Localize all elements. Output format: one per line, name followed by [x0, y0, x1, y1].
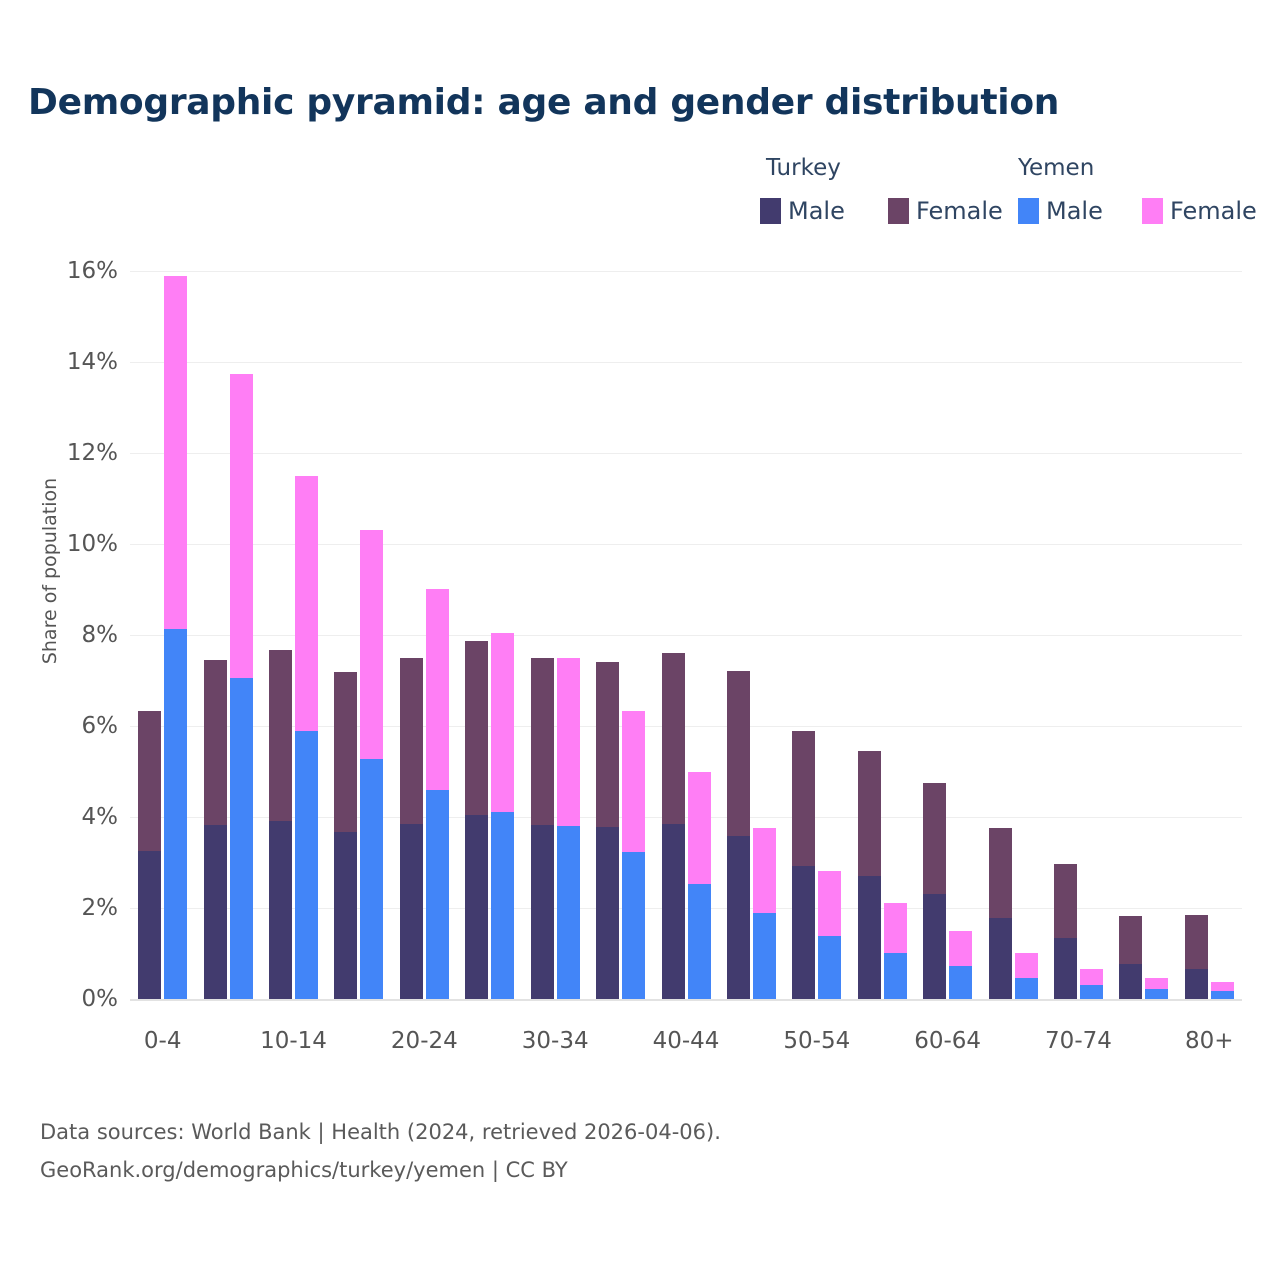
bar-yemen-20-24-female-segment[interactable]	[426, 589, 449, 790]
x-tick-label: 50-54	[783, 1028, 850, 1054]
x-tick-label: 40-44	[653, 1028, 720, 1054]
bar-turkey-75-79[interactable]	[1119, 916, 1142, 999]
y-axis-label: Share of population	[39, 461, 61, 681]
bar-turkey-45-49-female-segment[interactable]	[727, 671, 750, 836]
x-tick-label: 60-64	[914, 1028, 981, 1054]
bar-turkey-20-24[interactable]	[400, 658, 423, 999]
bar-yemen-5-9-female-segment[interactable]	[230, 374, 253, 678]
gridline-14%	[130, 362, 1242, 363]
bar-yemen-40-44-male-segment[interactable]	[688, 884, 711, 999]
bar-turkey-80+-male-segment[interactable]	[1185, 969, 1208, 999]
bar-yemen-40-44-female-segment[interactable]	[688, 772, 711, 884]
bar-turkey-80+-female-segment[interactable]	[1185, 915, 1208, 968]
bar-yemen-40-44[interactable]	[688, 772, 711, 1000]
bar-yemen-45-49[interactable]	[753, 828, 776, 999]
bar-yemen-55-59[interactable]	[884, 903, 907, 999]
gridline-12%	[130, 453, 1242, 454]
bar-yemen-0-4-male-segment[interactable]	[164, 629, 187, 999]
bar-yemen-70-74-male-segment[interactable]	[1080, 985, 1103, 999]
y-tick-label: 6%	[0, 713, 118, 739]
y-tick-label: 2%	[0, 895, 118, 921]
bar-yemen-60-64[interactable]	[949, 931, 972, 999]
bar-yemen-65-69-male-segment[interactable]	[1015, 978, 1038, 999]
bar-turkey-10-14[interactable]	[269, 650, 292, 999]
bar-turkey-60-64-female-segment[interactable]	[923, 783, 946, 894]
bar-yemen-35-39-male-segment[interactable]	[622, 852, 645, 999]
bar-turkey-70-74[interactable]	[1054, 864, 1077, 999]
bar-yemen-75-79-female-segment[interactable]	[1145, 978, 1168, 989]
bar-turkey-35-39-male-segment[interactable]	[596, 827, 619, 999]
bar-yemen-70-74-female-segment[interactable]	[1080, 969, 1103, 986]
bar-turkey-75-79-male-segment[interactable]	[1119, 964, 1142, 999]
bar-yemen-35-39[interactable]	[622, 711, 645, 999]
bar-yemen-0-4-female-segment[interactable]	[164, 276, 187, 629]
footer: Data sources: World Bank | Health (2024,…	[40, 1113, 721, 1189]
bar-turkey-25-29-male-segment[interactable]	[465, 815, 488, 999]
y-tick-label: 10%	[0, 531, 118, 557]
bar-turkey-30-34-male-segment[interactable]	[531, 825, 554, 999]
bar-turkey-10-14-female-segment[interactable]	[269, 650, 292, 821]
bar-turkey-25-29-female-segment[interactable]	[465, 641, 488, 815]
bar-turkey-0-4[interactable]	[138, 711, 161, 999]
bar-turkey-15-19-female-segment[interactable]	[334, 672, 357, 831]
y-tick-label: 4%	[0, 804, 118, 830]
bar-yemen-15-19-male-segment[interactable]	[360, 759, 383, 999]
x-tick-label: 10-14	[260, 1028, 327, 1054]
bar-yemen-75-79-male-segment[interactable]	[1145, 989, 1168, 999]
bar-turkey-0-4-male-segment[interactable]	[138, 851, 161, 999]
bar-turkey-10-14-male-segment[interactable]	[269, 821, 292, 999]
bar-turkey-35-39-female-segment[interactable]	[596, 662, 619, 827]
bar-yemen-25-29[interactable]	[491, 633, 514, 999]
bar-turkey-5-9-female-segment[interactable]	[204, 660, 227, 825]
bar-yemen-60-64-male-segment[interactable]	[949, 966, 972, 999]
bar-yemen-60-64-female-segment[interactable]	[949, 931, 972, 966]
bar-yemen-0-4[interactable]	[164, 276, 187, 999]
bar-turkey-5-9-male-segment[interactable]	[204, 825, 227, 999]
footer-line-1: Data sources: World Bank | Health (2024,…	[40, 1113, 721, 1151]
bar-turkey-50-54[interactable]	[792, 731, 815, 999]
bar-turkey-55-59-female-segment[interactable]	[858, 751, 881, 876]
bar-turkey-40-44-male-segment[interactable]	[662, 824, 685, 999]
bar-turkey-80+[interactable]	[1185, 915, 1208, 999]
chart-page: Demographic pyramid: age and gender dist…	[0, 0, 1280, 1280]
bar-yemen-10-14-female-segment[interactable]	[295, 476, 318, 732]
plot-area: Share of population 0%2%4%6%8%10%12%14%1…	[0, 0, 1280, 1280]
bar-turkey-60-64[interactable]	[923, 783, 946, 999]
bar-turkey-65-69-female-segment[interactable]	[989, 828, 1012, 918]
bar-yemen-5-9-male-segment[interactable]	[230, 678, 253, 999]
bar-yemen-65-69-female-segment[interactable]	[1015, 953, 1038, 978]
bar-turkey-25-29[interactable]	[465, 641, 488, 999]
y-tick-label: 8%	[0, 622, 118, 648]
bar-yemen-30-34-female-segment[interactable]	[557, 658, 580, 826]
x-tick-label: 0-4	[144, 1028, 182, 1054]
bar-yemen-45-49-male-segment[interactable]	[753, 913, 776, 999]
bar-turkey-55-59[interactable]	[858, 751, 881, 999]
bar-turkey-40-44-female-segment[interactable]	[662, 653, 685, 824]
gridline-16%	[130, 271, 1242, 272]
bar-yemen-55-59-female-segment[interactable]	[884, 903, 907, 952]
bar-turkey-45-49-male-segment[interactable]	[727, 836, 750, 999]
bar-yemen-50-54[interactable]	[818, 871, 841, 999]
bar-yemen-80+-female-segment[interactable]	[1211, 982, 1234, 991]
bar-yemen-35-39-female-segment[interactable]	[622, 711, 645, 852]
bar-turkey-40-44[interactable]	[662, 653, 685, 999]
bar-yemen-55-59-male-segment[interactable]	[884, 953, 907, 999]
bar-yemen-25-29-male-segment[interactable]	[491, 812, 514, 999]
bar-yemen-15-19-female-segment[interactable]	[360, 530, 383, 759]
bar-turkey-45-49[interactable]	[727, 671, 750, 999]
bar-yemen-80+[interactable]	[1211, 982, 1234, 999]
y-tick-label: 12%	[0, 440, 118, 466]
bar-turkey-30-34-female-segment[interactable]	[531, 658, 554, 825]
y-tick-label: 0%	[0, 986, 118, 1012]
bar-turkey-35-39[interactable]	[596, 662, 619, 999]
bar-yemen-80+-male-segment[interactable]	[1211, 991, 1234, 999]
y-tick-label: 14%	[0, 349, 118, 375]
bar-yemen-25-29-female-segment[interactable]	[491, 633, 514, 813]
bar-turkey-65-69[interactable]	[989, 828, 1012, 999]
bar-turkey-0-4-female-segment[interactable]	[138, 711, 161, 851]
bar-yemen-15-19[interactable]	[360, 530, 383, 999]
x-tick-label: 80+	[1185, 1028, 1234, 1054]
bar-yemen-5-9[interactable]	[230, 374, 253, 999]
x-tick-label: 20-24	[391, 1028, 458, 1054]
bar-turkey-30-34[interactable]	[531, 658, 554, 999]
x-tick-label: 70-74	[1045, 1028, 1112, 1054]
bar-turkey-60-64-male-segment[interactable]	[923, 894, 946, 999]
x-tick-label: 30-34	[522, 1028, 589, 1054]
bar-yemen-20-24-male-segment[interactable]	[426, 790, 449, 999]
bar-yemen-65-69[interactable]	[1015, 953, 1038, 999]
bar-turkey-15-19-male-segment[interactable]	[334, 832, 357, 999]
bar-yemen-30-34-male-segment[interactable]	[557, 826, 580, 999]
footer-line-2: GeoRank.org/demographics/turkey/yemen | …	[40, 1151, 721, 1189]
bar-yemen-45-49-female-segment[interactable]	[753, 828, 776, 913]
bar-turkey-20-24-male-segment[interactable]	[400, 824, 423, 999]
bar-turkey-5-9[interactable]	[204, 660, 227, 999]
bar-yemen-50-54-female-segment[interactable]	[818, 871, 841, 936]
bar-yemen-10-14[interactable]	[295, 476, 318, 999]
bar-turkey-55-59-male-segment[interactable]	[858, 876, 881, 999]
bar-turkey-20-24-female-segment[interactable]	[400, 658, 423, 824]
gridline-0%	[130, 999, 1242, 1001]
bar-turkey-70-74-female-segment[interactable]	[1054, 864, 1077, 938]
bar-yemen-30-34[interactable]	[557, 658, 580, 999]
bar-turkey-50-54-male-segment[interactable]	[792, 866, 815, 999]
bar-yemen-75-79[interactable]	[1145, 978, 1168, 999]
bar-turkey-70-74-male-segment[interactable]	[1054, 938, 1077, 999]
bar-yemen-20-24[interactable]	[426, 589, 449, 999]
bar-yemen-50-54-male-segment[interactable]	[818, 936, 841, 999]
y-tick-label: 16%	[0, 258, 118, 284]
bar-turkey-65-69-male-segment[interactable]	[989, 918, 1012, 999]
bar-turkey-50-54-female-segment[interactable]	[792, 731, 815, 865]
bar-turkey-75-79-female-segment[interactable]	[1119, 916, 1142, 964]
bar-yemen-10-14-male-segment[interactable]	[295, 731, 318, 999]
bar-turkey-15-19[interactable]	[334, 672, 357, 999]
bar-yemen-70-74[interactable]	[1080, 969, 1103, 999]
